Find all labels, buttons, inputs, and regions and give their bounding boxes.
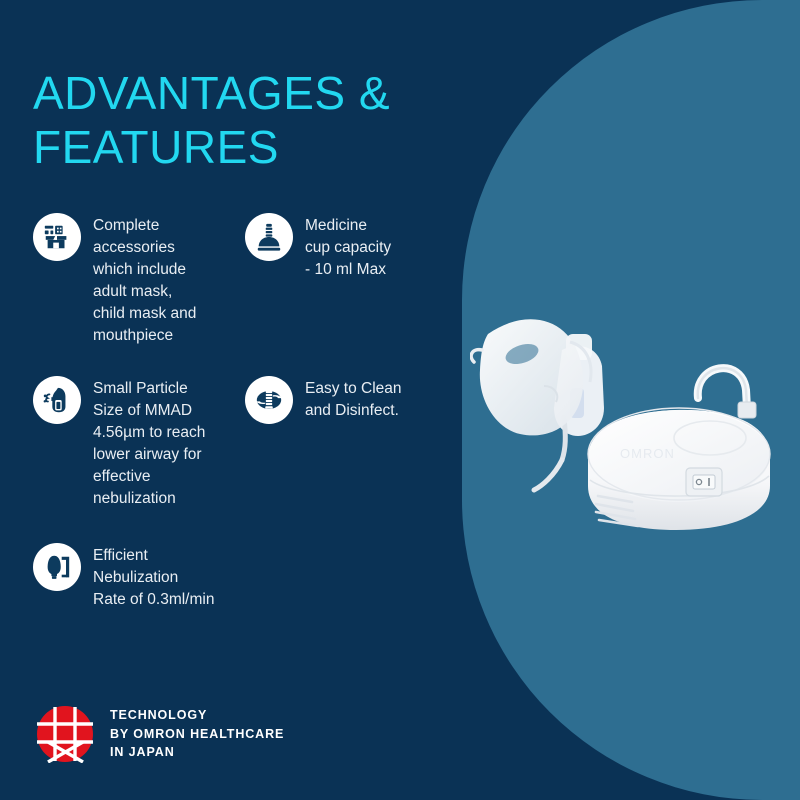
feature-text: Small Particle Size of MMAD 4.56µm to re… [93,376,205,510]
feature-text: Medicine cup capacity - 10 ml Max [305,213,391,281]
advantages-features-slide: OMRON [0,0,800,800]
feature-item-easy-clean: Easy to Clean and Disinfect. [245,376,455,424]
footer-text: TECHNOLOGY BY OMRON HEALTHCARE IN JAPAN [110,706,284,762]
medicine-cup-icon [245,213,293,261]
particle-spray-icon [33,376,81,424]
svg-text:OMRON: OMRON [620,446,675,461]
product-image: OMRON [470,290,790,540]
nebulization-rate-icon [33,543,81,591]
footer-branding: TECHNOLOGY BY OMRON HEALTHCARE IN JAPAN [36,705,284,763]
feature-text: Easy to Clean and Disinfect. [305,376,402,422]
feature-item-medicine-cup: Medicine cup capacity - 10 ml Max [245,213,455,281]
page-title: ADVANTAGES & FEATURES [33,66,433,175]
clean-disinfect-icon [245,376,293,424]
omron-logo [36,705,94,763]
accessories-box-icon [33,213,81,261]
feature-item-particle-size: Small Particle Size of MMAD 4.56µm to re… [33,376,248,510]
feature-item-complete-accessories: Complete accessories which include adult… [33,213,248,347]
feature-text: Complete accessories which include adult… [93,213,196,347]
feature-item-nebulization-rate: Efficient Nebulization Rate of 0.3ml/min [33,543,263,611]
feature-text: Efficient Nebulization Rate of 0.3ml/min [93,543,214,611]
